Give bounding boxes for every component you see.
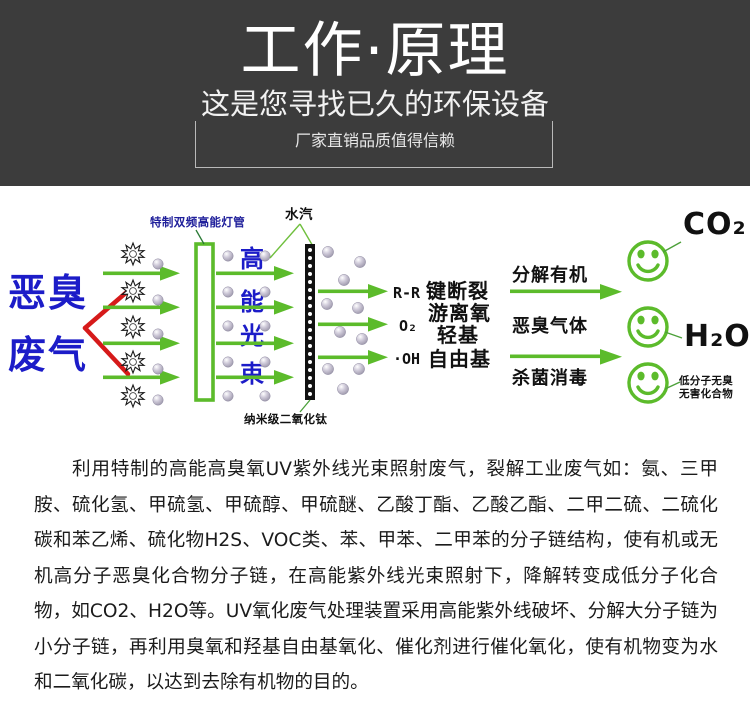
banner-tagline: 厂家直销品质值得信赖 (0, 131, 750, 151)
description-paragraph: 利用特制的高能高臭氧UV紫外线光束照射废气，裂解工业废气如：氨、三甲胺、硫化氢、… (34, 452, 718, 701)
outcome-label-2: 恶臭气体 (512, 315, 588, 337)
outcome-label-3: 杀菌消毒 (512, 367, 588, 389)
smiley-face-3 (629, 364, 667, 402)
uv-lamp-tube (196, 244, 213, 400)
lamp-label: 特制双频高能灯管 (150, 215, 245, 229)
product-note-line2: 无害化合物 (678, 387, 733, 400)
red-chevron (85, 291, 128, 374)
product-label-co2: CO₂ (683, 207, 747, 242)
molecule-spheres-right (321, 246, 367, 394)
tio2-leader-line (300, 400, 310, 412)
smiley-face-2 (629, 308, 667, 346)
tio2-plate (305, 244, 315, 400)
post-plate-arrows (318, 284, 388, 365)
lamp-leader-line (196, 230, 204, 244)
reaction-line-1: 键断裂 (426, 279, 489, 303)
radical-label-3: ·OH (393, 350, 420, 368)
product-note-line1: 低分子无臭 (678, 374, 733, 387)
outcome-label-1: 分解有机 (512, 264, 588, 286)
starburst-icons (122, 243, 144, 407)
beam-char-1: 高 (240, 245, 264, 273)
product-label-h2o: H₂O (684, 319, 750, 354)
radical-label-2: O₂ (399, 317, 417, 335)
tio2-label: 纳米级二氧化钛 (244, 412, 327, 426)
reaction-line-2: 游离氧 (428, 301, 491, 325)
outcome-arrow-1 (510, 284, 622, 300)
reaction-line-4: 自由基 (428, 347, 491, 371)
process-diagram: 恶臭 废气 (0, 186, 750, 444)
banner-subtitle: 这是您寻找已久的环保设备 (0, 88, 750, 120)
page-root: 工作·原理 这是您寻找已久的环保设备 厂家直销品质值得信赖 恶臭 废气 (0, 0, 750, 706)
page-title: 工作·原理 (0, 20, 750, 82)
reaction-line-3: 轻基 (437, 323, 479, 347)
inlet-label-line1: 恶臭 (8, 271, 88, 315)
header-banner: 工作·原理 这是您寻找已久的环保设备 厂家直销品质值得信赖 (0, 0, 750, 186)
outcome-arrow-2 (510, 349, 622, 365)
vapor-label: 水汽 (285, 206, 313, 223)
inlet-label-line2: 废气 (8, 333, 88, 377)
radical-label-1: R-R (393, 284, 421, 302)
smiley-face-1 (629, 242, 667, 280)
banner-subtitle-text: 这是您寻找已久的环保设备 (191, 87, 559, 121)
